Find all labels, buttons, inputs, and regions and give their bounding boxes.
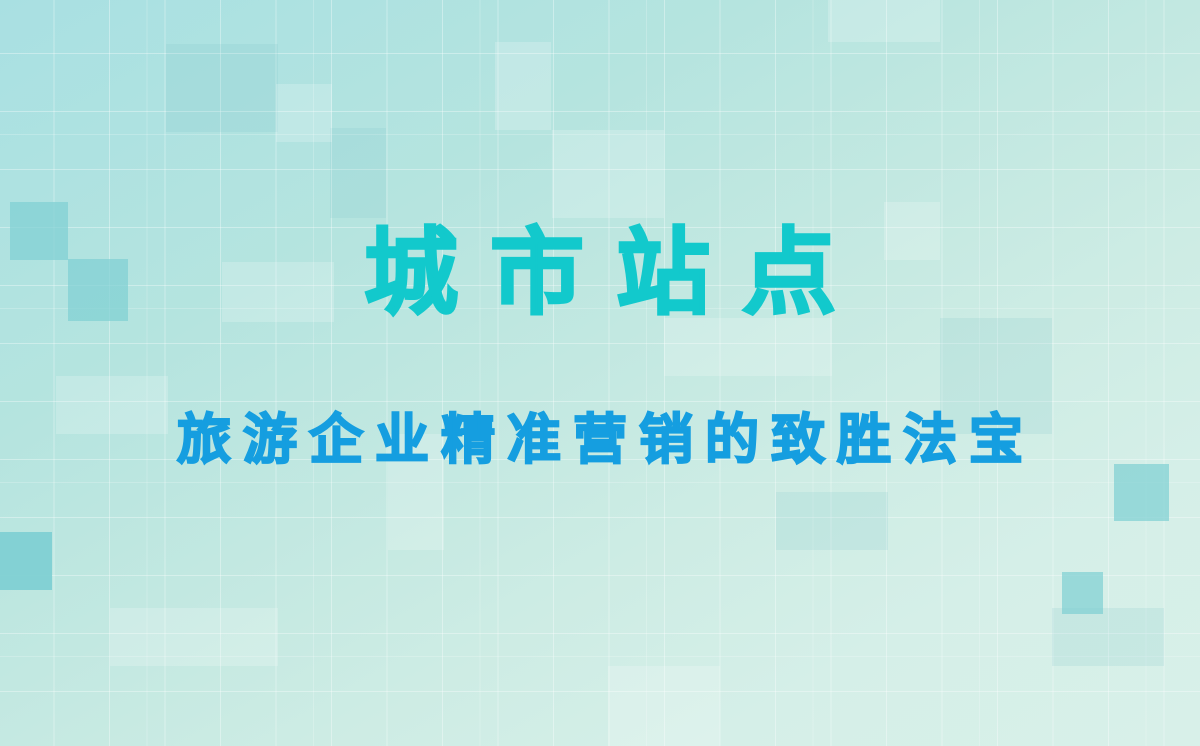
poster-text-block: 城市站点 旅游企业精准营销的致胜法宝 bbox=[0, 0, 1200, 746]
page-title: 城市站点 bbox=[0, 224, 1200, 324]
page-subtitle: 旅游企业精准营销的致胜法宝 bbox=[0, 409, 1200, 471]
poster-canvas: 城市站点 旅游企业精准营销的致胜法宝 bbox=[0, 0, 1200, 746]
